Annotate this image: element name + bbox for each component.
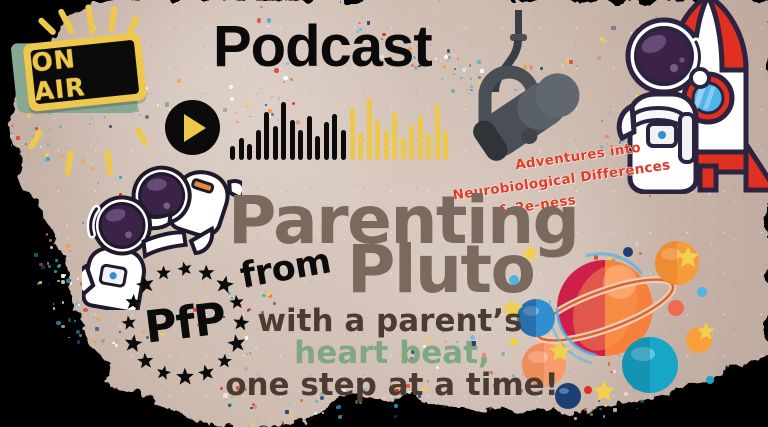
waveform-bar xyxy=(256,130,261,160)
podcast-wordmark: Podcast xyxy=(213,18,432,76)
waveform-bar xyxy=(358,132,363,160)
waveform-bar xyxy=(392,112,397,160)
waveform-bar xyxy=(239,138,244,160)
waveform-bar xyxy=(443,130,448,160)
waveform-bar xyxy=(384,130,389,160)
on-air-ray xyxy=(108,6,118,33)
waveform-bar xyxy=(418,116,423,160)
on-air-ray xyxy=(37,17,57,37)
waveform-bar xyxy=(426,134,431,160)
title-line-pluto: Pluto xyxy=(347,240,534,301)
on-air-label: ON AIR xyxy=(30,38,139,107)
waveform-bar xyxy=(273,126,278,160)
waveform-bar xyxy=(281,102,286,160)
audio-waveform[interactable] xyxy=(230,98,452,160)
waveform-bar xyxy=(401,138,406,160)
waveform-bar xyxy=(324,122,329,160)
waveform-bar xyxy=(367,98,372,160)
waveform-bar xyxy=(298,130,303,160)
waveform-bar xyxy=(307,116,312,160)
waveform-bar xyxy=(290,120,295,160)
waveform-bar xyxy=(409,124,414,160)
on-air-sign-screen: ON AIR xyxy=(30,40,139,105)
waveform-bar xyxy=(230,146,235,160)
on-air-ray xyxy=(57,8,75,36)
play-triangle-icon xyxy=(184,114,206,142)
on-air-sign: ON AIR xyxy=(8,4,158,136)
on-air-sign-frame: ON AIR xyxy=(23,32,147,112)
waveform-bar xyxy=(264,112,269,160)
tagline-line-1: with a parent’s xyxy=(0,305,768,337)
play-button[interactable] xyxy=(165,100,220,155)
waveform-bar xyxy=(375,120,380,160)
tagline-line-3: one step at a time! xyxy=(0,369,768,401)
waveform-bar xyxy=(315,136,320,160)
waveform-bar xyxy=(247,144,252,160)
waveform-bar xyxy=(350,108,355,160)
tagline-block: with a parent’s heart beat, one step at … xyxy=(0,305,768,402)
on-air-ray xyxy=(85,4,96,35)
waveform-bar xyxy=(332,114,337,160)
waveform-bar xyxy=(341,130,346,160)
tagline-line-2: heart beat, xyxy=(0,337,768,369)
waveform-bar xyxy=(435,104,440,160)
podcast-cover-canvas: ON AIR Podcast xyxy=(0,0,768,427)
